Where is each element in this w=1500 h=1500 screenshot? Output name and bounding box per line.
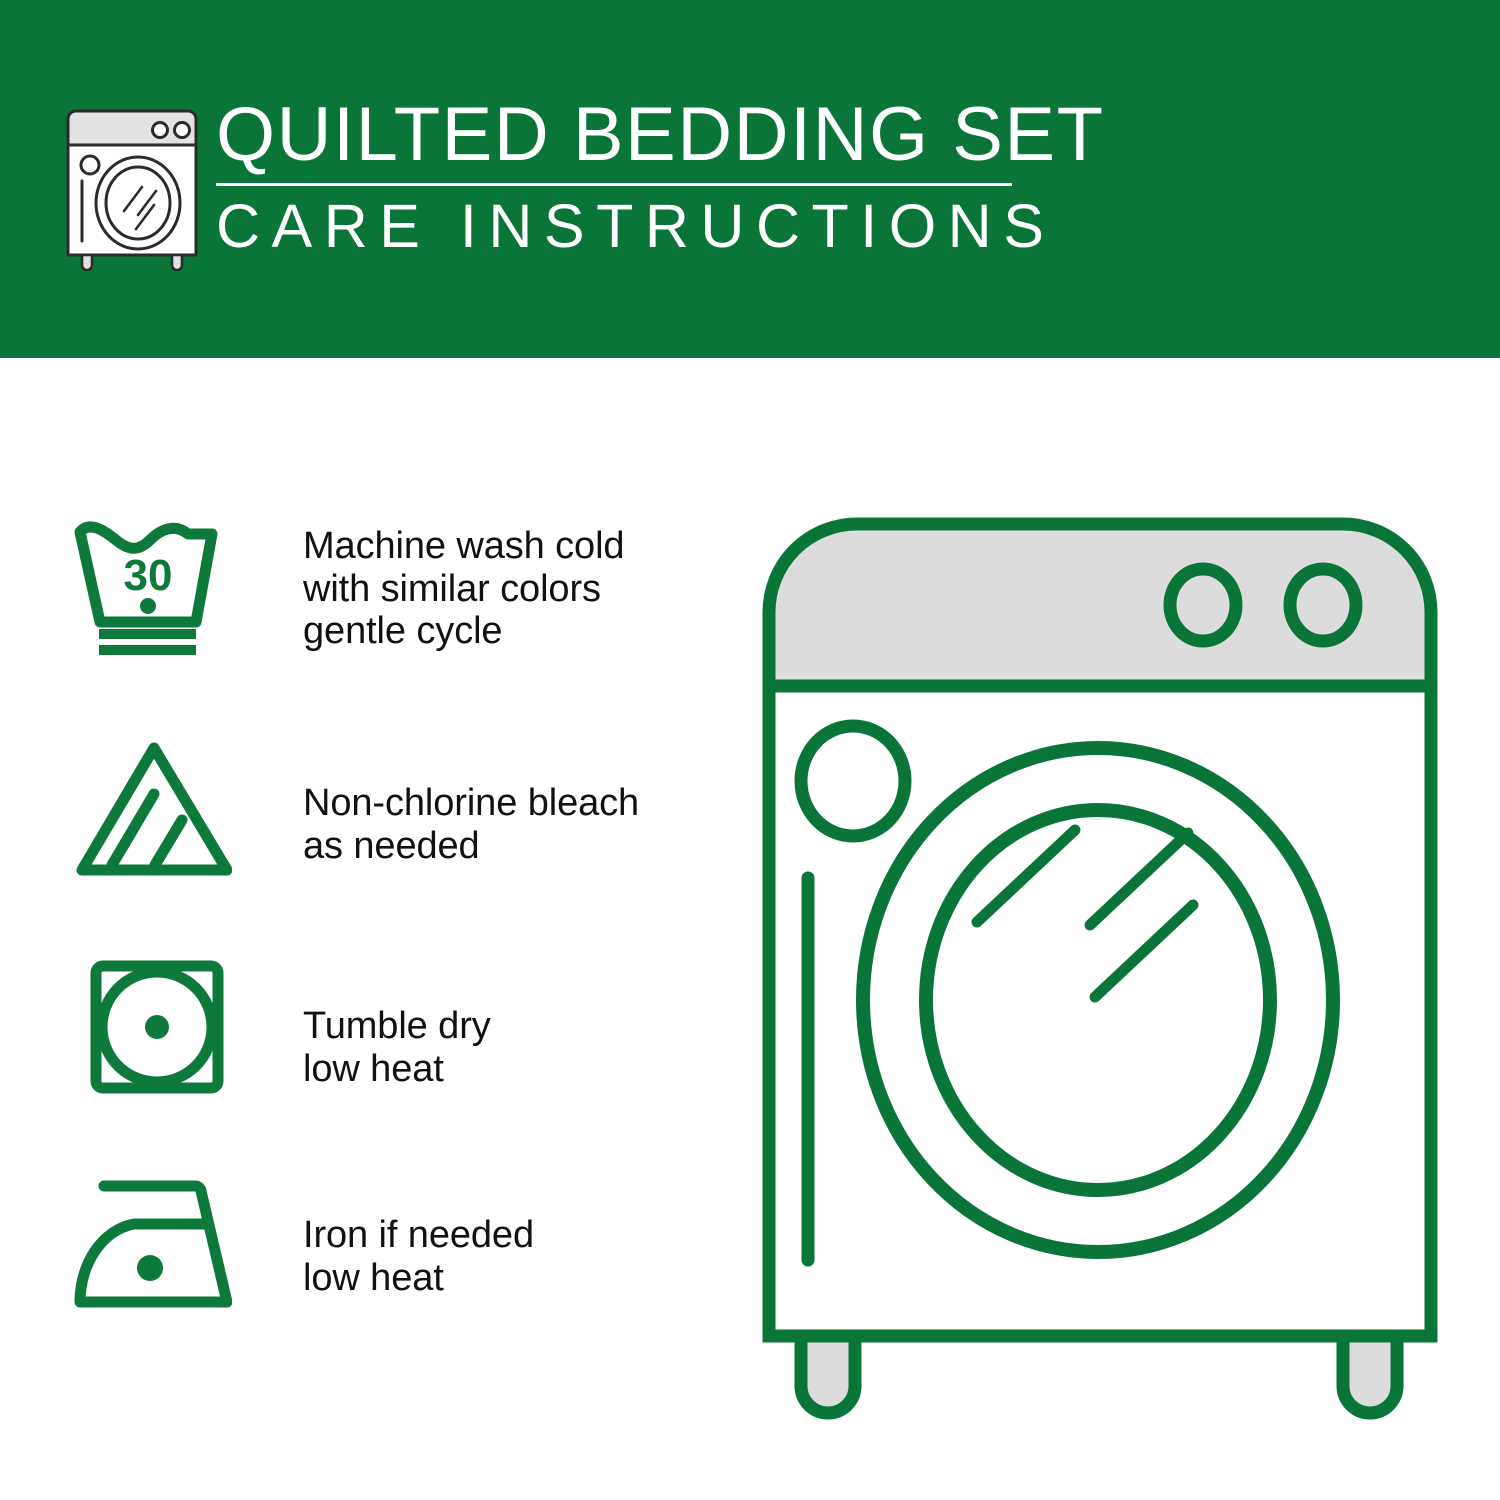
header-text-block: QUILTED BEDDING SET CARE INSTRUCTIONS (216, 96, 1026, 259)
machine-knob-2[interactable] (1290, 569, 1356, 641)
care-item-label: Tumble dry low heat (303, 952, 491, 1090)
header-band: QUILTED BEDDING SET CARE INSTRUCTIONS (0, 0, 1500, 358)
care-item-label: Machine wash cold with similar colors ge… (303, 512, 624, 653)
care-instruction-list: 30 Machine wash cold with similar colors… (72, 512, 712, 1392)
tumble-dry-low-heat-icon (72, 952, 237, 1102)
triangle-non-chlorine-bleach-icon (72, 732, 237, 882)
machine-knob-1[interactable] (1170, 569, 1236, 641)
page-subtitle: CARE INSTRUCTIONS (216, 193, 1026, 259)
washing-machine-icon (62, 103, 202, 271)
care-item-label: Non-chlorine bleach as needed (303, 732, 639, 867)
care-item-bleach: Non-chlorine bleach as needed (72, 732, 712, 952)
page-title: QUILTED BEDDING SET (216, 96, 1026, 174)
header-divider (216, 183, 1012, 186)
wash-temperature-value: 30 (124, 551, 173, 600)
machine-dispenser-button[interactable] (801, 726, 905, 836)
wash-tub-30-gentle-icon: 30 (72, 512, 237, 662)
care-item-machine-wash: 30 Machine wash cold with similar colors… (72, 512, 712, 732)
iron-low-heat-icon (72, 1172, 237, 1322)
machine-leg-right (1343, 1336, 1397, 1413)
care-instructions-page: QUILTED BEDDING SET CARE INSTRUCTIONS (0, 0, 1500, 1500)
care-item-label: Iron if needed low heat (303, 1172, 534, 1299)
front-load-washing-machine-illustration (745, 500, 1455, 1420)
care-item-iron: Iron if needed low heat (72, 1172, 712, 1392)
machine-leg-left (801, 1336, 855, 1413)
care-item-tumble-dry: Tumble dry low heat (72, 952, 712, 1172)
